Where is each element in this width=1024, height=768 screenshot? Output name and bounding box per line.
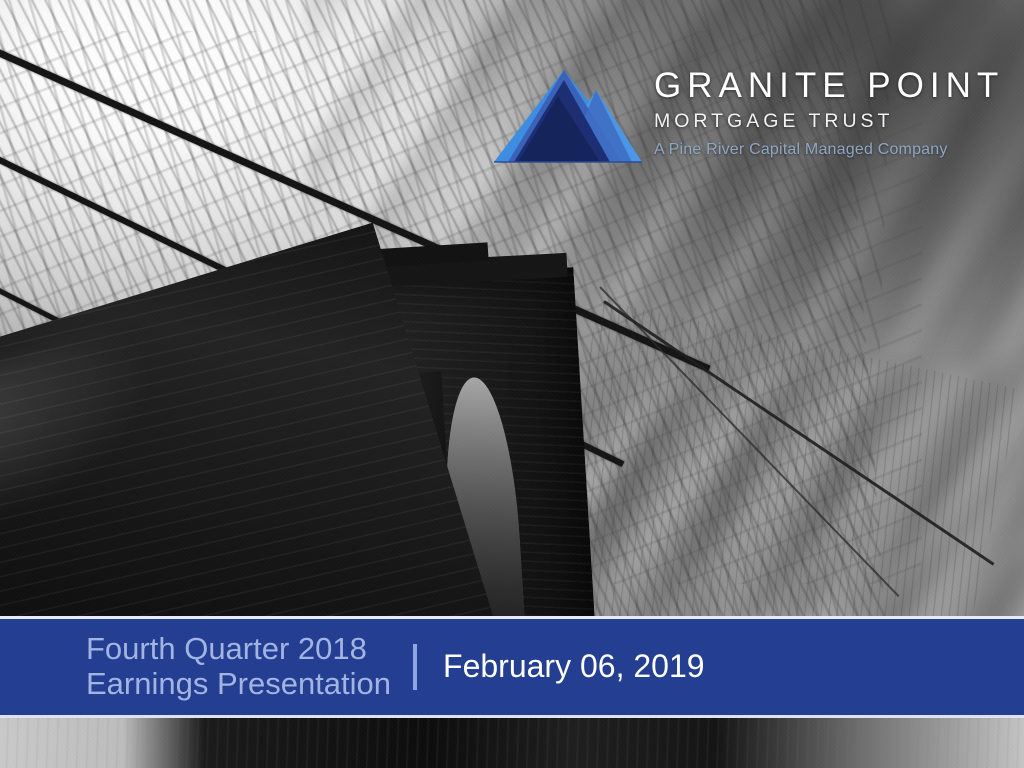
- granite-point-logo: GRANITE POINT MORTGAGE TRUST A Pine Rive…: [492, 62, 952, 174]
- presentation-title-slide: GRANITE POINT MORTGAGE TRUST A Pine Rive…: [0, 0, 1024, 768]
- mountain-mark-icon: [492, 62, 642, 170]
- brand-subtitle: MORTGAGE TRUST: [654, 112, 1004, 132]
- title-banner: Fourth Quarter 2018 Earnings Presentatio…: [0, 616, 1024, 718]
- presentation-title: Fourth Quarter 2018 Earnings Presentatio…: [86, 632, 391, 701]
- bottom-photo-strip-texture: [0, 716, 1024, 768]
- logo-wordmark: GRANITE POINT MORTGAGE TRUST A Pine Rive…: [654, 62, 1004, 158]
- banner-divider: [413, 644, 417, 690]
- brand-tagline: A Pine River Capital Managed Company: [654, 142, 1004, 158]
- brand-name: GRANITE POINT: [654, 68, 1004, 103]
- presentation-date: February 06, 2019: [443, 649, 705, 684]
